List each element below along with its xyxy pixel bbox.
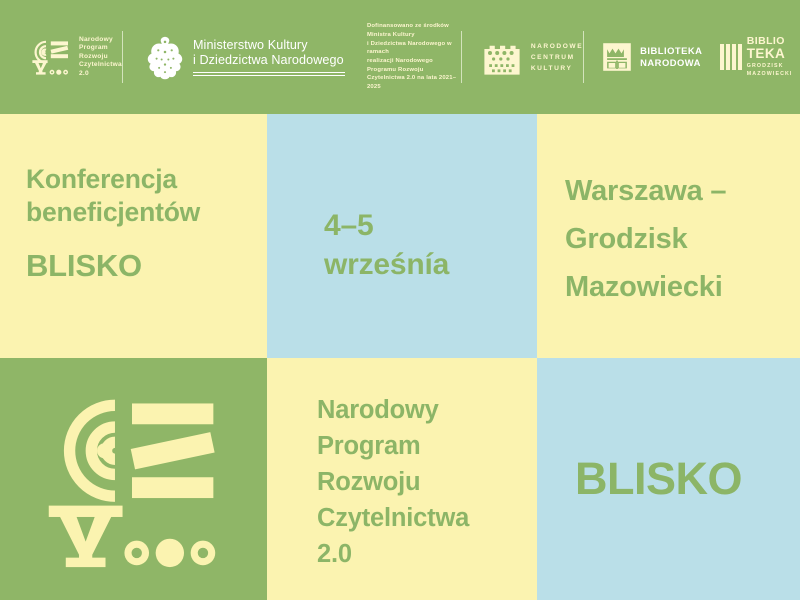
czy-logo-large-icon — [37, 394, 227, 569]
program-name-text: Narodowy Program Rozwoju Czytelnictwa 2.… — [317, 392, 469, 600]
polish-eagle-emblem-icon — [144, 33, 186, 81]
logo-nck: NARODOWE CENTRUM KULTURY — [482, 26, 583, 88]
logo-grodzisk-text: BIBLIO TEKA GRODZISK MAZOWIECKI — [747, 36, 800, 78]
cell-program-name: Narodowy Program Rozwoju Czytelnictwa 2.… — [267, 358, 537, 600]
logo-biblioteka-grodzisk: BIBLIO TEKA GRODZISK MAZOWIECKI — [720, 26, 800, 88]
cell-blisko: BLISKO — [537, 358, 800, 600]
cell-date: 4–5 wrześnía — [267, 114, 537, 358]
library-bars-mark-icon — [720, 44, 741, 70]
date-text: 4–5 wrześnía — [324, 206, 449, 358]
ministry-rule-top — [193, 72, 345, 73]
logo-nprcz: Narodowy Program Rozwoju Czytelnictwa 2.… — [30, 26, 122, 88]
logo-nck-label: NARODOWE CENTRUM KULTURY — [531, 41, 583, 74]
content-grid: Konferencja beneficjentów BLISKO 4–5 wrz… — [0, 114, 800, 600]
czy-logo-mini-icon — [30, 37, 70, 77]
logo-divider-3 — [583, 31, 584, 83]
logo-ministry-title: Ministerstwo Kultury i Dziedzictwa Narod… — [193, 38, 345, 68]
cell-conference-title: Konferencja beneficjentów BLISKO — [0, 114, 267, 358]
funding-statement-text: Dofinansowano ze środków Ministra Kultur… — [367, 22, 461, 92]
funding-statement: Dofinansowano ze środków Ministra Kultur… — [367, 26, 461, 88]
logo-bar: Narodowy Program Rozwoju Czytelnictwa 2.… — [0, 0, 800, 114]
logo-divider-2 — [461, 31, 462, 83]
biblioteka-narodowa-crown-mark-icon — [602, 42, 632, 72]
logo-grodzisk-line2: TEKA — [747, 47, 800, 61]
conference-title-line2: BLISKO — [26, 249, 200, 282]
poster: Narodowy Program Rozwoju Czytelnictwa 2.… — [0, 0, 800, 600]
cell-location: Warszawa – Grodzisk Mazowiecki — [537, 114, 800, 358]
logo-biblioteka-narodowa-label: BIBLIOTEKA NARODOWA — [640, 45, 702, 70]
logo-nprcz-label: Narodowy Program Rozwoju Czytelnictwa 2.… — [79, 36, 122, 79]
nck-castle-mark-icon — [482, 37, 522, 77]
blisko-text: BLISKO — [575, 455, 742, 503]
cell-czy-logo — [0, 358, 267, 600]
logo-ministry: Ministerstwo Kultury i Dziedzictwa Narod… — [144, 26, 345, 88]
logo-grodzisk-line3: GRODZISK MAZOWIECKI — [747, 62, 800, 78]
location-text: Warszawa – Grodzisk Mazowiecki — [565, 167, 726, 358]
logo-biblioteka-narodowa: BIBLIOTEKA NARODOWA — [602, 26, 702, 88]
conference-title-line1: Konferencja beneficjentów — [26, 163, 200, 229]
ministry-rule-bottom — [193, 75, 345, 76]
logo-ministry-text: Ministerstwo Kultury i Dziedzictwa Narod… — [193, 38, 345, 77]
logo-divider — [122, 31, 123, 83]
